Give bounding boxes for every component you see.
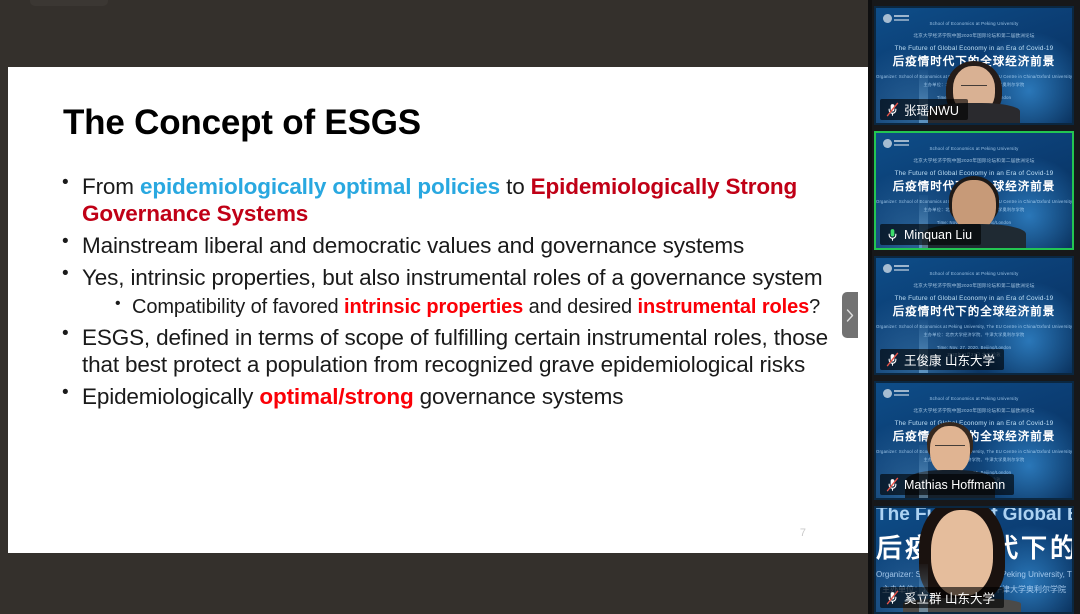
overlay-line: School of Economics at Peking University (876, 146, 1072, 153)
bullet-run-highlight: instrumental roles (638, 296, 810, 318)
participant-name-badge: 张瑶NWU (880, 99, 968, 120)
overlay-line: School of Economics at Peking University (876, 21, 1072, 28)
bullet-run-highlight: intrinsic properties (344, 296, 523, 318)
microphone-icon (886, 227, 899, 242)
participant-tile[interactable]: School of Economics at Peking University… (874, 381, 1074, 500)
bullet-item: Epidemiologically optimal/strong governa… (56, 383, 846, 410)
overlay-line: 北京大学经济学院中国2020年国际论坛和第二届欧洲论坛 (876, 33, 1072, 40)
bullet-run: ESGS, defined in terms of scope of fulfi… (82, 325, 828, 377)
slide-body: From epidemiologically optimal policies … (56, 173, 846, 415)
participant-name: 张瑶NWU (904, 100, 959, 119)
next-slide-button[interactable] (842, 292, 858, 338)
bullet-run: governance systems (414, 384, 624, 409)
participant-name: Mathias Hoffmann (904, 478, 1005, 492)
overlay-line: The Future of Global Economy in an Era o… (876, 44, 1072, 54)
participant-filmstrip[interactable]: School of Economics at Peking University… (868, 0, 1080, 614)
sub-bullet-list: Compatibility of favored intrinsic prope… (82, 295, 846, 319)
overlay-line: The Future of Global Economy in an Era o… (876, 294, 1072, 304)
participant-name-badge: Mathias Hoffmann (880, 474, 1014, 495)
microphone-muted-icon (886, 590, 899, 605)
overlay-line: 后疫情时代下的全球经济前景 (876, 304, 1072, 321)
meeting-toolbar-stub[interactable] (30, 0, 108, 6)
slide-number: 7 (800, 527, 806, 539)
bullet-run: to (500, 174, 531, 199)
participant-name: Minquan Liu (904, 228, 972, 242)
bullet-item: Yes, intrinsic properties, but also inst… (56, 264, 846, 319)
bullet-run: ? (809, 296, 820, 318)
microphone-muted-icon (886, 102, 899, 117)
bullet-item: ESGS, defined in terms of scope of fulfi… (56, 324, 846, 378)
participant-name-badge: 王俊康 山东大学 (880, 349, 1004, 370)
participant-tile[interactable]: School of Economics at Peking University… (874, 256, 1074, 375)
chevron-right-icon (846, 309, 854, 322)
overlay-line: School of Economics at Peking University (876, 271, 1072, 278)
bullet-run-highlight: optimal/strong (259, 384, 413, 409)
bullet-item: Mainstream liberal and democratic values… (56, 232, 846, 259)
bullet-run: Compatibility of favored (132, 296, 344, 318)
bullet-item: From epidemiologically optimal policies … (56, 173, 846, 227)
bullet-list: From epidemiologically optimal policies … (56, 173, 846, 410)
meeting-window: The Concept of ESGS From epidemiological… (0, 0, 1080, 614)
participant-name: 王俊康 山东大学 (904, 350, 995, 369)
presentation-slide: The Concept of ESGS From epidemiological… (8, 67, 868, 553)
overlay-line: Organizer: School of Economics at Peking… (876, 324, 1072, 330)
overlay-line: 北京大学经济学院中国2020年国际论坛和第二届欧洲论坛 (876, 158, 1072, 165)
overlay-line: School of Economics at Peking University (876, 396, 1072, 403)
overlay-line: 主办单位：北京大学经济学院、牛津大学奥利尔学院 (876, 332, 1072, 338)
bullet-run-highlight: epidemiologically optimal policies (140, 174, 500, 199)
participant-tile[interactable]: School of Economics at Peking University… (874, 6, 1074, 125)
participant-name-badge: 奚立群 山东大学 (880, 587, 1004, 608)
participant-tile[interactable]: The Future of Global Economy in an Era o… (874, 506, 1074, 614)
bullet-run: and desired (523, 296, 637, 318)
participant-name: 奚立群 山东大学 (904, 588, 995, 607)
microphone-muted-icon (886, 352, 899, 367)
microphone-muted-icon (886, 477, 899, 492)
participant-tile[interactable]: School of Economics at Peking University… (874, 131, 1074, 250)
overlay-line: 北京大学经济学院中国2020年国际论坛和第二届欧洲论坛 (876, 408, 1072, 415)
filmstrip-divider (868, 0, 872, 614)
shared-screen-stage: The Concept of ESGS From epidemiological… (0, 0, 868, 614)
bullet-run: From (82, 174, 140, 199)
participant-name-badge: Minquan Liu (880, 224, 981, 245)
overlay-line: 北京大学经济学院中国2020年国际论坛和第二届欧洲论坛 (876, 283, 1072, 290)
bullet-run: Mainstream liberal and democratic values… (82, 233, 744, 258)
sub-bullet-item: Compatibility of favored intrinsic prope… (115, 295, 846, 319)
bullet-run: Epidemiologically (82, 384, 259, 409)
bullet-run: Yes, intrinsic properties, but also inst… (82, 265, 823, 290)
slide-title: The Concept of ESGS (63, 103, 421, 143)
